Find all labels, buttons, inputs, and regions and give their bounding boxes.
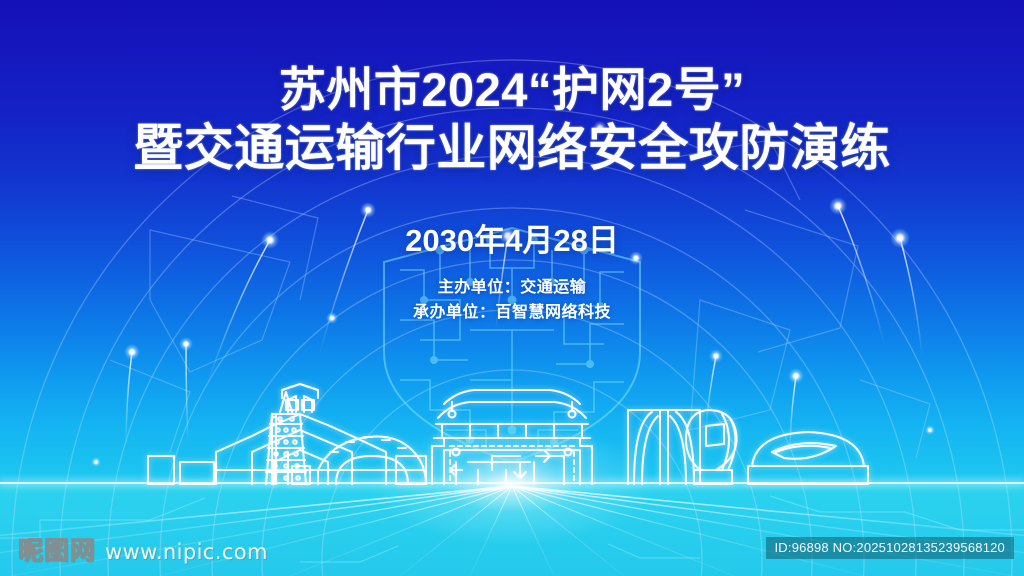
watermark: 昵图网 www.nipic.com [18,531,268,567]
organizers-block: 主办单位：交通运输 承办单位：百智慧网络科技 [0,276,1024,326]
co-organizer: 承办单位：百智慧网络科技 [0,301,1024,326]
event-date: 2030年4月28日 [0,215,1024,260]
page-title-line-1: 苏州市2024“护网2号” [0,66,1024,113]
host-organizer: 主办单位：交通运输 [0,276,1024,301]
page-title-line-2: 暨交通运输行业网络安全攻防演练 [0,123,1024,173]
image-id-badge: ID:96898 NO:20251028135239568120 [766,537,1015,559]
watermark-url: www.nipic.com [105,540,268,564]
title-block: 苏州市2024“护网2号” 暨交通运输行业网络安全攻防演练 [0,66,1024,173]
watermark-brand: 昵图网 [18,531,96,567]
poster-canvas: 苏州市2024“护网2号” 暨交通运输行业网络安全攻防演练 2030年4月28日… [0,0,1024,576]
